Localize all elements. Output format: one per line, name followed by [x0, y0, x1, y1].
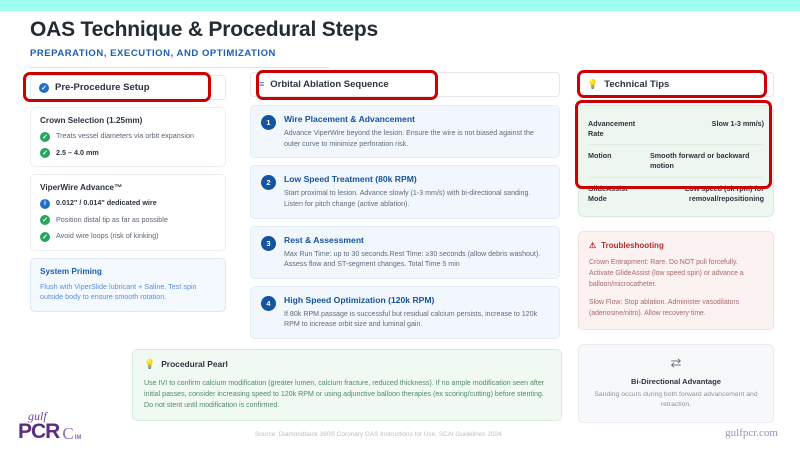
technical-tips-table: Advancement Rate Slow 1-3 mm/s) Motion S… — [578, 105, 774, 217]
bullet-text: Position distal tip as far as possible — [56, 215, 168, 225]
step-body: Advance ViperWire beyond the lesion. Ens… — [284, 128, 549, 149]
header: OAS Technique & Procedural Steps PREPARA… — [30, 18, 770, 68]
advantage-body: Sanding occurs during both forward advan… — [589, 390, 763, 410]
top-accent-bar — [0, 0, 800, 11]
card-title: System Priming — [40, 267, 216, 276]
logo-c-mark: C — [62, 425, 73, 442]
lightbulb-icon: 💡 — [587, 80, 598, 89]
advantage-title: Bi-Directional Advantage — [589, 377, 763, 386]
logo-im-text: IM — [75, 435, 82, 441]
table-cell-key: Motion — [588, 151, 646, 161]
table-row: Advancement Rate Slow 1-3 mm/s) — [588, 113, 764, 144]
list-item: ✓ Avoid wire loops (risk of kinking) — [40, 231, 216, 242]
card-title: Crown Selection (1.25mm) — [40, 116, 216, 125]
step-title: High Speed Optimization (120k RPM) — [284, 295, 549, 305]
pearl-title: Procedural Pearl — [161, 359, 228, 369]
troubleshooting-paragraph: Slow Flow: Stop ablation. Administer vas… — [589, 298, 763, 319]
table-cell-key: Advancement Rate — [588, 119, 646, 138]
lightbulb-icon: 💡 — [144, 360, 155, 369]
slide-root: OAS Technique & Procedural Steps PREPARA… — [0, 0, 800, 450]
bullet-text: 0.012" / 0.014" dedicated wire — [56, 198, 157, 208]
procedural-pearl-card: 💡 Procedural Pearl Use IVI to confirm ca… — [132, 349, 562, 421]
step-body: Max Run Time: up to 30 seconds.Rest Time… — [284, 249, 549, 270]
bi-directional-advantage-card: ⇄ Bi-Directional Advantage Sanding occur… — [578, 344, 774, 423]
section-title-right: Technical Tips — [604, 79, 669, 90]
left-column: ✓ Pre-Procedure Setup Crown Selection (1… — [30, 75, 226, 312]
list-item: ✓ Treats vessel diameters via orbit expa… — [40, 131, 216, 142]
step-number: 1 — [261, 115, 276, 130]
card-viperwire-advance: ViperWire Advance™ i 0.012" / 0.014" ded… — [30, 174, 226, 251]
list-item: ✓ Position distal tip as far as possible — [40, 215, 216, 226]
section-header-technical-tips[interactable]: 💡 Technical Tips — [578, 72, 774, 97]
warning-triangle-icon: ⚠ — [589, 242, 596, 250]
step-item: 3 Rest & Assessment Max Run Time: up to … — [250, 226, 560, 279]
card-body: Flush with ViperSlide lubricant + Saline… — [40, 282, 216, 304]
logo-row: PCR C IM — [18, 421, 113, 442]
check-circle-icon: ✓ — [40, 232, 50, 242]
step-number: 2 — [261, 175, 276, 190]
website-url[interactable]: gulfpcr.com — [725, 427, 778, 439]
table-cell-value: Slow 1-3 mm/s) — [646, 119, 764, 129]
troubleshooting-header: ⚠ Troubleshooting — [589, 241, 763, 250]
logo-pcr-text: PCR — [18, 421, 59, 442]
middle-column: ≡ Orbital Ablation Sequence 1 Wire Place… — [250, 72, 560, 421]
section-title-left: Pre-Procedure Setup — [55, 82, 150, 93]
table-row: Motion Smooth forward or backward motion — [588, 144, 764, 176]
shuffle-arrows-icon: ⇄ — [589, 356, 763, 369]
check-circle-icon: ✓ — [40, 215, 50, 225]
info-circle-icon: i — [40, 199, 50, 209]
troubleshooting-card: ⚠ Troubleshooting Crown Entrapment: Rare… — [578, 231, 774, 330]
step-title: Rest & Assessment — [284, 235, 549, 245]
troubleshooting-paragraph: Crown Entrapment: Rare. Do NOT pull forc… — [589, 258, 763, 290]
step-number: 3 — [261, 236, 276, 251]
section-header-pre-procedure-setup[interactable]: ✓ Pre-Procedure Setup — [30, 75, 226, 100]
page-title: OAS Technique & Procedural Steps — [30, 18, 770, 42]
bullet-text: Treats vessel diameters via orbit expans… — [56, 131, 194, 141]
bullet-text: Avoid wire loops (risk of kinking) — [56, 231, 159, 241]
list-item: ✓ 2.5 – 4.0 mm — [40, 148, 216, 159]
step-title: Wire Placement & Advancement — [284, 114, 549, 124]
card-title: ViperWire Advance™ — [40, 183, 216, 192]
step-body: If 80k RPM passage is successful but res… — [284, 309, 549, 330]
step-item: 1 Wire Placement & Advancement Advance V… — [250, 105, 560, 158]
source-citation: Source: Diamondback 360® Coronary OAS In… — [255, 431, 502, 438]
step-title: Low Speed Treatment (80k RPM) — [284, 174, 549, 184]
table-cell-key: GlideAssist Mode — [588, 184, 646, 203]
section-title-middle: Orbital Ablation Sequence — [270, 79, 388, 90]
section-header-orbital-ablation-sequence[interactable]: ≡ Orbital Ablation Sequence — [250, 72, 560, 97]
check-circle-icon: ✓ — [40, 132, 50, 142]
list-item: i 0.012" / 0.014" dedicated wire — [40, 198, 216, 209]
troubleshooting-title: Troubleshooting — [601, 241, 664, 250]
card-system-priming: System Priming Flush with ViperSlide lub… — [30, 258, 226, 313]
step-item: 4 High Speed Optimization (120k RPM) If … — [250, 286, 560, 339]
gulfpcr-logo: gulf PCR C IM — [18, 410, 113, 442]
header-divider — [30, 67, 330, 68]
ordered-list-icon: ≡ — [259, 80, 264, 89]
step-item: 2 Low Speed Treatment (80k RPM) Start pr… — [250, 165, 560, 218]
page-subtitle: PREPARATION, EXECUTION, AND OPTIMIZATION — [30, 48, 770, 59]
clipboard-check-icon: ✓ — [39, 83, 49, 93]
pearl-header: 💡 Procedural Pearl — [144, 359, 550, 369]
right-column: 💡 Technical Tips Advancement Rate Slow 1… — [578, 72, 774, 423]
card-crown-selection: Crown Selection (1.25mm) ✓ Treats vessel… — [30, 107, 226, 167]
table-cell-value: Smooth forward or backward motion — [646, 151, 764, 170]
bullet-text: 2.5 – 4.0 mm — [56, 148, 99, 158]
pearl-body: Use IVI to confirm calcium modification … — [144, 378, 550, 411]
step-body: Start proximal to lesion. Advance slowly… — [284, 188, 549, 209]
table-row: GlideAssist Mode Low speed (5k rpm) for … — [588, 177, 764, 209]
table-cell-value: Low speed (5k rpm) for removal/repositio… — [646, 184, 764, 203]
step-number: 4 — [261, 296, 276, 311]
check-circle-icon: ✓ — [40, 148, 50, 158]
